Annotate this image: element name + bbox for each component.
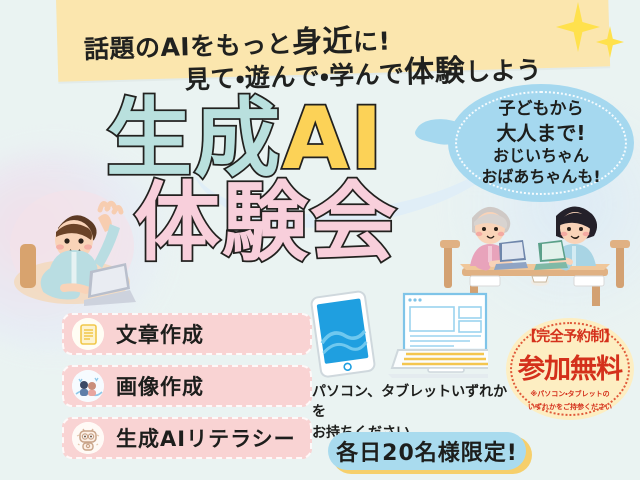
header-line2-part3: しよう bbox=[465, 55, 542, 86]
poster-canvas: 話題のAIをもっと身近に! 見て・遊んで・学んで体験しよう 子どもから 大人まで… bbox=[0, 0, 640, 480]
feature-pill-image-generation[interactable]: 画像作成 bbox=[62, 365, 312, 407]
feature-pill-ai-literacy[interactable]: 生成AIリテラシー bbox=[62, 417, 312, 459]
robot-icon bbox=[72, 422, 104, 454]
limit-pill-label: 各日20名様限定! bbox=[328, 432, 526, 470]
boy-with-laptop-illustration bbox=[2, 182, 138, 310]
bubble-line-1: 子どもから bbox=[499, 99, 584, 121]
feature-list: 文章作成 画像作成 bbox=[62, 313, 312, 469]
bubble-line-3: おじいちゃん bbox=[493, 146, 589, 166]
badge-reservation-text: 【完全予約制】 bbox=[523, 326, 618, 346]
title-taikenkai: 体験会 bbox=[134, 173, 398, 273]
badge-free-text: 参加無料 bbox=[518, 347, 622, 386]
bubble-line-4: おばあちゃんも! bbox=[481, 167, 600, 187]
image-people-icon bbox=[72, 370, 104, 402]
feature-pill-text-generation[interactable]: 文章作成 bbox=[62, 313, 312, 355]
document-icon bbox=[72, 318, 104, 350]
capacity-limit-pill: 各日20名様限定! bbox=[328, 432, 528, 472]
badge-note-line2: いずれかをご持参ください bbox=[528, 402, 612, 413]
feature-label: 生成AIリテラシー bbox=[116, 423, 296, 453]
free-participation-badge: 【完全予約制】 参加無料 ※パソコン・タブレットの いずれかをご持参ください bbox=[506, 318, 634, 420]
tablet-and-laptop-illustration bbox=[300, 288, 488, 380]
feature-label: 画像作成 bbox=[116, 371, 204, 401]
feature-label: 文章作成 bbox=[116, 319, 204, 349]
badge-note-line1: ※パソコン・タブレットの bbox=[530, 389, 609, 400]
bubble-line-2: 大人まで! bbox=[496, 121, 585, 147]
device-note-line1: パソコン、タブレットいずれかを bbox=[312, 382, 512, 423]
header-line2-emphasis: 体験 bbox=[404, 54, 466, 91]
